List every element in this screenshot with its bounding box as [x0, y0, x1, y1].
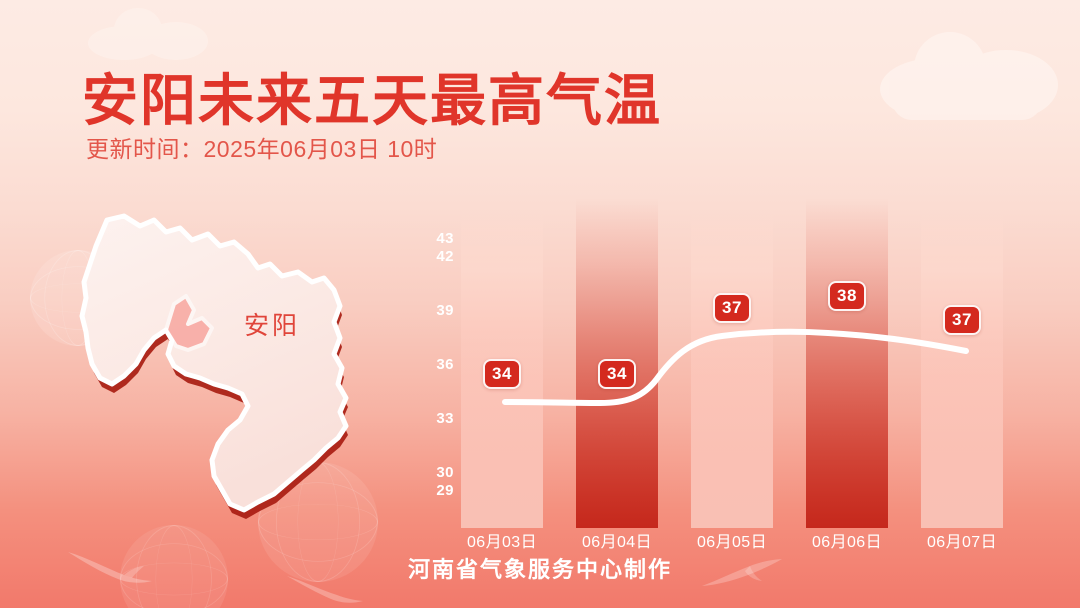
update-time-text: 更新时间：2025年06月03日 10时 — [86, 130, 437, 164]
temperature-value-badge: 34 — [598, 359, 636, 389]
temperature-value-badge: 34 — [483, 359, 521, 389]
infographic-canvas: 安阳未来五天最高气温 更新时间：2025年06月03日 10时 安阳 — [0, 0, 1080, 608]
map-outline — [82, 216, 346, 510]
temperature-value-badge: 37 — [943, 305, 981, 335]
footer-credit: 河南省气象服务中心制作 — [0, 552, 1080, 584]
map-region-label: 安阳 — [244, 306, 300, 342]
x-axis-date-label: 06月04日 — [582, 528, 652, 552]
temperature-value-badge: 37 — [713, 293, 751, 323]
x-axis-date-label: 06月05日 — [697, 528, 767, 552]
x-axis-date-label: 06月06日 — [812, 528, 882, 552]
x-axis-date-label: 06月03日 — [467, 528, 537, 552]
temperature-value-badge: 38 — [828, 281, 866, 311]
anyang-map: 安阳 — [62, 198, 402, 538]
x-axis-date-label: 06月07日 — [927, 528, 997, 552]
cloud-decoration-top-right — [880, 24, 1058, 116]
temperature-chart: 43423936333029 3434373837 06月03日06月04日06… — [410, 198, 1030, 528]
cloud-decoration-top-left — [88, 6, 208, 60]
temperature-line-path — [505, 332, 966, 403]
page-title: 安阳未来五天最高气温 — [82, 56, 662, 137]
